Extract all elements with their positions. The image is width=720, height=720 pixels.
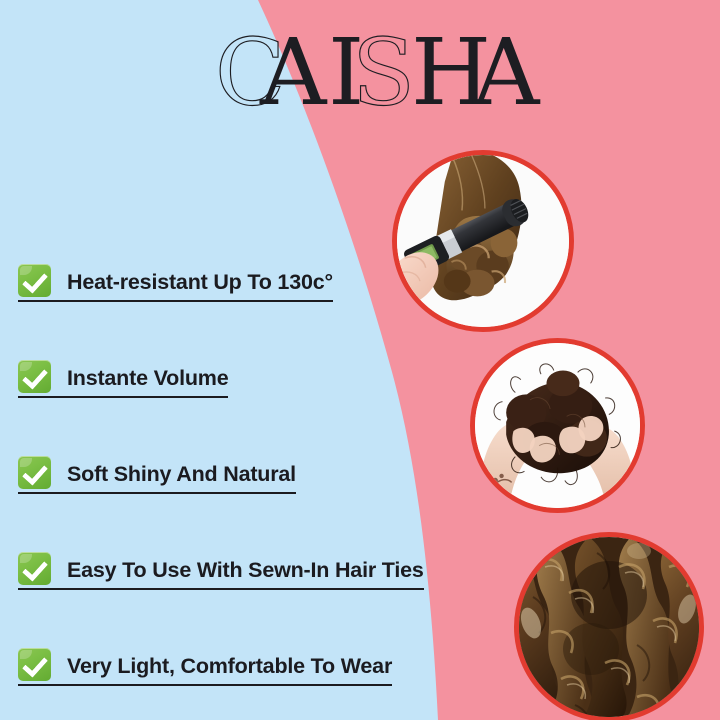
check-icon bbox=[18, 552, 51, 585]
brand-letter-a2: A bbox=[472, 19, 541, 126]
feature-list: Heat-resistant Up To 130c° Instante Volu… bbox=[18, 206, 448, 686]
feature-item: Heat-resistant Up To 130c° bbox=[18, 206, 448, 302]
product-photo-curling-iron bbox=[392, 150, 574, 332]
brand-logo: C A I S H A bbox=[215, 18, 555, 123]
feature-item: Instante Volume bbox=[18, 302, 448, 398]
check-icon bbox=[18, 264, 51, 297]
brand-logo-text: C A I S H A bbox=[215, 19, 541, 126]
feature-label: Soft Shiny And Natural bbox=[67, 463, 296, 491]
feature-label: Easy To Use With Sewn-In Hair Ties bbox=[67, 559, 424, 587]
feature-item: Very Light, Comfortable To Wear bbox=[18, 590, 448, 686]
brand-letter-s: S bbox=[352, 19, 409, 126]
check-icon bbox=[18, 456, 51, 489]
product-infographic: C A I S H A Heat-resistant Up To 130c° I… bbox=[0, 0, 720, 720]
feature-item: Soft Shiny And Natural bbox=[18, 398, 448, 494]
feature-label: Instante Volume bbox=[67, 367, 228, 395]
check-icon bbox=[18, 360, 51, 393]
feature-item: Easy To Use With Sewn-In Hair Ties bbox=[18, 494, 448, 590]
product-photo-hair-extensions-in-hands bbox=[470, 338, 645, 513]
brand-letter-a: A bbox=[259, 19, 328, 126]
feature-label: Very Light, Comfortable To Wear bbox=[67, 655, 392, 683]
check-icon bbox=[18, 648, 51, 681]
feature-label: Heat-resistant Up To 130c° bbox=[67, 271, 333, 299]
product-photo-curly-hair-closeup bbox=[514, 532, 704, 720]
